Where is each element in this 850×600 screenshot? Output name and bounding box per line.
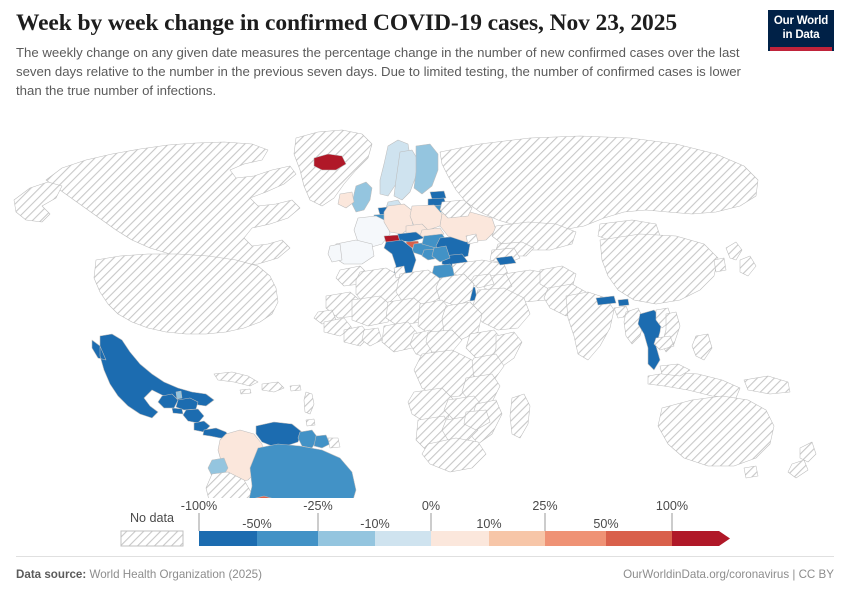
legend-bin-3[interactable]: [375, 531, 431, 546]
legend-tick-label-minus50: -50%: [242, 517, 271, 531]
legend-bin-6[interactable]: [545, 531, 606, 546]
world-map-container[interactable]: [0, 108, 850, 498]
country-belize[interactable]: [176, 391, 182, 399]
country-tasmania[interactable]: [744, 466, 758, 478]
legend-no-data-label: No data: [130, 511, 174, 525]
country-el-salvador[interactable]: [172, 408, 183, 414]
chart-footer: Data source: World Health Organization (…: [0, 556, 850, 600]
country-russia[interactable]: [440, 136, 758, 230]
footer-divider: [16, 556, 834, 557]
owid-logo-line-1: Our World: [770, 15, 832, 29]
country-usa[interactable]: [94, 254, 278, 334]
page-title: Week by week change in confirmed COVID-1…: [16, 10, 758, 37]
legend-bin-7[interactable]: [606, 531, 672, 546]
legend-bin-4[interactable]: [431, 531, 489, 546]
country-korea[interactable]: [714, 258, 726, 272]
data-source: Data source: World Health Organization (…: [16, 568, 262, 581]
world-map[interactable]: [0, 108, 850, 498]
chart-subtitle: The weekly change on any given date meas…: [16, 43, 742, 100]
country-venezuela[interactable]: [256, 422, 302, 446]
country-moldova[interactable]: [466, 234, 478, 244]
legend-tick-label-minus25: -25%: [303, 499, 332, 513]
country-bhutan[interactable]: [618, 299, 629, 306]
country-uk[interactable]: [352, 182, 372, 212]
country-cuba[interactable]: [214, 372, 258, 386]
owid-logo[interactable]: Our World in Data: [768, 10, 834, 51]
country-portugal[interactable]: [328, 244, 342, 262]
country-nicaragua[interactable]: [183, 409, 204, 423]
map-countries-group: [14, 130, 816, 498]
country-hispaniola[interactable]: [262, 382, 284, 392]
legend-tick-label-25: 25%: [532, 499, 557, 513]
data-source-prefix: Data source:: [16, 568, 86, 581]
country-ireland[interactable]: [338, 192, 354, 208]
country-papua[interactable]: [744, 376, 790, 394]
data-source-value: World Health Organization (2025): [89, 568, 262, 581]
country-china[interactable]: [600, 234, 718, 304]
country-new-zealand[interactable]: [788, 442, 816, 478]
chart-header: Week by week change in confirmed COVID-1…: [16, 10, 758, 100]
country-georgia[interactable]: [496, 256, 516, 265]
legend-tick-label-10: 10%: [476, 517, 501, 531]
country-finland[interactable]: [414, 144, 438, 194]
legend-bin-0[interactable]: [199, 531, 257, 546]
country-jamaica[interactable]: [240, 389, 251, 394]
attribution-link[interactable]: OurWorldinData.org/coronavirus | CC BY: [623, 568, 834, 581]
country-japan[interactable]: [726, 242, 756, 276]
country-ghana[interactable]: [362, 328, 382, 346]
legend-bin-8-overflow-arrow[interactable]: [672, 531, 730, 546]
country-cambodia[interactable]: [654, 336, 674, 350]
country-australia[interactable]: [658, 396, 774, 466]
country-lesser-antilles[interactable]: [304, 392, 314, 414]
legend-tick-label-minus100: -100%: [181, 499, 217, 513]
owid-logo-rule: [770, 47, 832, 51]
legend-bin-5[interactable]: [489, 531, 545, 546]
country-indonesia[interactable]: [648, 372, 740, 398]
map-legend[interactable]: -100% -25% 0% 25% 100% -50% -10% 10% 50%…: [0, 496, 850, 552]
legend-bin-2[interactable]: [318, 531, 375, 546]
legend-tick-label-100: 100%: [656, 499, 688, 513]
country-trinidad[interactable]: [306, 419, 315, 426]
country-french-guiana[interactable]: [328, 438, 340, 448]
legend-no-data-swatch[interactable]: [121, 531, 183, 546]
country-canada[interactable]: [46, 142, 300, 266]
country-puerto-rico[interactable]: [290, 385, 301, 391]
legend-bin-1[interactable]: [257, 531, 318, 546]
legend-tick-label-50: 50%: [593, 517, 618, 531]
legend-svg[interactable]: -100% -25% 0% 25% 100% -50% -10% 10% 50%…: [0, 496, 850, 552]
country-madagascar[interactable]: [510, 394, 530, 438]
country-south-africa[interactable]: [422, 438, 486, 472]
owid-logo-line-2: in Data: [770, 29, 832, 43]
country-brazil[interactable]: [246, 444, 356, 498]
legend-tick-label-minus10: -10%: [360, 517, 389, 531]
country-alaska[interactable]: [14, 182, 62, 222]
legend-tick-label-zero: 0%: [422, 499, 440, 513]
country-suriname[interactable]: [314, 435, 330, 448]
country-philippines[interactable]: [692, 334, 712, 360]
